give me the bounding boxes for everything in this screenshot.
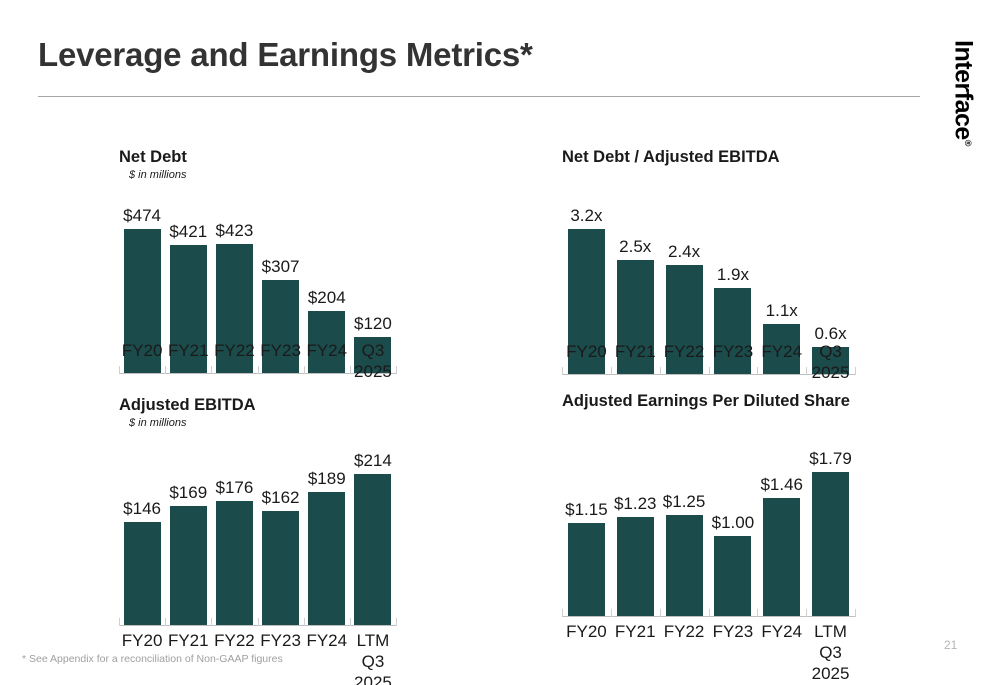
category-label-line: Q3 [819,342,842,361]
axis-tick [709,609,710,617]
category-label-line: FY20 [122,631,163,650]
bar[interactable] [812,472,849,616]
category-label-line: 2025 [350,361,396,382]
bar[interactable] [354,474,391,625]
bar-value-label: $1.79 [809,449,852,469]
axis-tick [211,618,212,626]
bar-value-label: 2.4x [668,242,700,262]
category-label: LTMQ3 2025 [350,630,396,685]
bar-value-label: $189 [308,469,346,489]
bar-value-label: $1.23 [614,494,657,514]
bar-value-label: 2.5x [619,237,651,257]
axis-tick [611,609,612,617]
title-divider [38,96,920,97]
category-label-line: FY24 [761,622,802,641]
logo-wordmark: Interface® [949,40,978,146]
category-label-line: LTM [814,622,847,641]
axis-tick [350,618,351,626]
bar-value-label: $423 [216,221,254,241]
bar[interactable] [617,517,654,616]
bar[interactable] [216,501,253,625]
axis-tick [806,609,807,617]
category-label-line: FY21 [615,342,656,361]
bar-value-label: $1.15 [565,500,608,520]
bar-slot: $214 [350,434,396,625]
category-label-line: FY23 [713,622,754,641]
category-label: FY23 [708,341,757,383]
bar[interactable] [714,536,751,617]
category-axis-labels: FY20FY21FY22FY23FY24Q32025 [562,341,855,383]
bar-value-label: $1.25 [663,492,706,512]
category-label-line: FY21 [168,631,209,650]
bar-slot: $1.46 [757,430,806,616]
slide-canvas: Leverage and Earnings Metrics* Interface… [0,0,1000,685]
axis-tick [562,609,563,617]
page-number: 21 [944,638,957,652]
bar-value-label: $1.46 [760,475,803,495]
axis-tick [757,609,758,617]
bar-slot: $189 [304,434,350,625]
category-label: FY22 [660,341,709,383]
bar-value-label: $307 [262,257,300,277]
axis-tick [855,367,856,375]
axis-tick [660,609,661,617]
bar-slot: $176 [211,434,257,625]
bar-value-label: $214 [354,451,392,471]
category-label-line: FY21 [168,341,209,360]
category-label: FY21 [165,340,211,382]
plot-area: $146$169$176$162$189$214 [119,434,396,626]
bar-slot: $162 [258,434,304,625]
category-label: FY20 [119,340,165,382]
category-label-line: Q3 2025 [350,651,396,685]
bar-value-label: $169 [169,483,207,503]
category-label: FY23 [708,621,757,684]
category-label-line: FY22 [214,341,255,360]
plot-area: $1.15$1.23$1.25$1.00$1.46$1.79 [562,430,855,617]
category-label: FY20 [562,341,611,383]
bar-slot: $1.23 [611,430,660,616]
category-label-line: FY22 [214,631,255,650]
bar-group: $146$169$176$162$189$214 [119,434,396,625]
bar-value-label: $474 [123,206,161,226]
category-label-line: FY22 [664,342,705,361]
bar-slot: $1.79 [806,430,855,616]
bar-value-label: $176 [216,478,254,498]
bar-value-label: $204 [308,288,346,308]
axis-tick [396,366,397,374]
category-label: FY21 [611,341,660,383]
category-label-line: FY24 [306,631,347,650]
page-title: Leverage and Earnings Metrics* [38,36,533,74]
category-label: FY24 [757,621,806,684]
registered-trademark-icon: ® [963,140,973,146]
chart-subtitle: $ in millions [129,169,186,181]
category-axis-labels: FY20FY21FY22FY23FY24LTMQ3 2025 [562,621,855,684]
category-label-line: FY23 [260,341,301,360]
bar-value-label: $146 [123,499,161,519]
category-label: Q32025 [350,340,396,382]
bar[interactable] [568,523,605,616]
axis-tick [258,618,259,626]
category-label-line: FY22 [664,622,705,641]
chart-title: Net Debt [119,148,187,167]
category-label: FY20 [562,621,611,684]
bar-slot: $169 [165,434,211,625]
category-label-line: FY24 [306,341,347,360]
category-label-line: Q3 2025 [806,642,855,684]
bar-value-label: $120 [354,314,392,334]
bar-value-label: $1.00 [712,513,755,533]
axis-tick [165,618,166,626]
category-label-line: LTM [357,631,390,650]
category-label-line: FY20 [122,341,163,360]
category-label: FY24 [304,630,350,685]
category-label: FY22 [660,621,709,684]
bar-slot: $1.25 [660,430,709,616]
bar-value-label: $162 [262,488,300,508]
bar[interactable] [124,522,161,625]
category-label: FY23 [258,340,304,382]
category-label-line: FY20 [566,342,607,361]
category-label: FY22 [211,340,257,382]
axis-tick [855,609,856,617]
axis-tick [119,618,120,626]
category-label-line: FY21 [615,622,656,641]
category-label: FY24 [757,341,806,383]
bar[interactable] [308,492,345,625]
bar-group: $1.15$1.23$1.25$1.00$1.46$1.79 [562,430,855,616]
bar-slot: $1.00 [708,430,757,616]
category-label: FY21 [611,621,660,684]
bar-value-label: 1.9x [717,265,749,285]
bar-value-label: 1.1x [766,301,798,321]
bar-slot: $1.15 [562,430,611,616]
category-label: Q32025 [806,341,855,383]
category-label-line: FY24 [761,342,802,361]
category-label: LTMQ3 2025 [806,621,855,684]
category-label-line: FY23 [260,631,301,650]
bar-value-label: $421 [169,222,207,242]
bar[interactable] [262,511,299,625]
axis-tick [396,618,397,626]
category-label: FY24 [304,340,350,382]
footnote: * See Appendix for a reconciliation of N… [22,653,283,665]
chart-title: Net Debt / Adjusted EBITDA [562,148,780,167]
bar-value-label: 3.2x [570,206,602,226]
chart-title: Adjusted EBITDA [119,396,256,415]
chart-subtitle: $ in millions [129,417,186,429]
bar[interactable] [666,515,703,616]
bar[interactable] [763,498,800,616]
category-label-line: 2025 [806,362,855,383]
bar[interactable] [170,506,207,625]
axis-tick [304,618,305,626]
interface-logo: Interface® [952,28,974,158]
bar-slot: $146 [119,434,165,625]
category-axis-labels: FY20FY21FY22FY23FY24Q32025 [119,340,396,382]
category-label-line: FY20 [566,622,607,641]
category-label-line: FY23 [713,342,754,361]
chart-title: Adjusted Earnings Per Diluted Share [562,392,850,411]
category-label-line: Q3 [362,341,385,360]
